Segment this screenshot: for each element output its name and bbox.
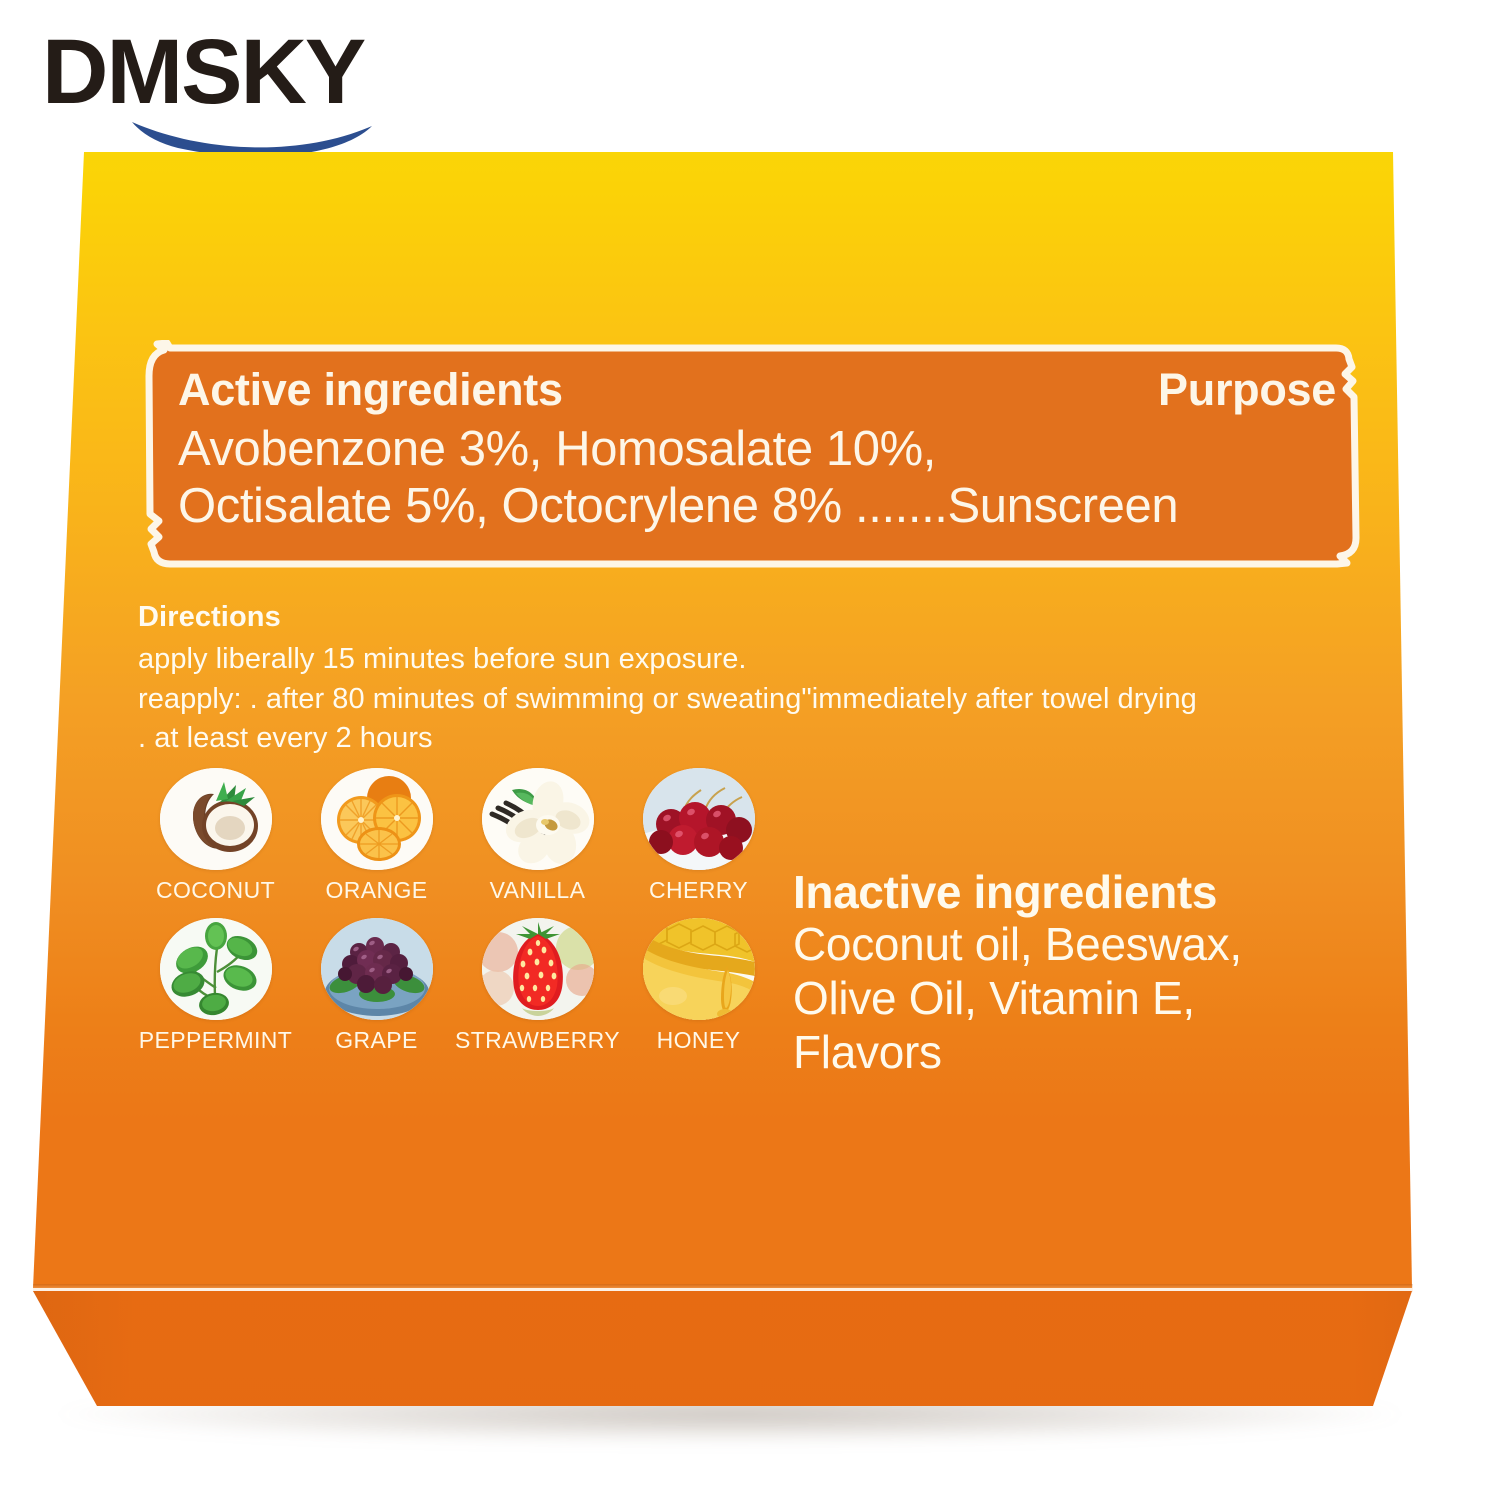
flavor-label: STRAWBERRY	[455, 1027, 620, 1054]
flavor-label: GRAPE	[335, 1027, 418, 1054]
flavor-item-coconut: COCONUT	[135, 768, 296, 904]
flavor-label: ORANGE	[325, 877, 427, 904]
cherry-icon	[643, 768, 755, 870]
flavor-item-orange: ORANGE	[296, 768, 457, 904]
flavor-label: COCONUT	[156, 877, 275, 904]
active-ingredients-heading: Active ingredients	[178, 366, 563, 413]
inactive-ingredients-list: Coconut oil, Beeswax, Olive Oil, Vitamin…	[793, 918, 1393, 1079]
flavor-label: VANILLA	[490, 877, 586, 904]
strawberry-icon	[482, 918, 594, 1020]
inactive-ingredients-heading: Inactive ingredients	[793, 868, 1393, 916]
flavor-item-peppermint: PEPPERMINT	[135, 918, 296, 1054]
flavor-label: PEPPERMINT	[139, 1027, 293, 1054]
active-ingredients-panel: Active ingredients Purpose Avobenzone 3%…	[140, 340, 1366, 572]
grape-icon	[321, 918, 433, 1020]
flavor-item-cherry: CHERRY	[618, 768, 779, 904]
flavor-label: HONEY	[657, 1027, 741, 1054]
peppermint-icon	[160, 918, 272, 1020]
honey-icon	[643, 918, 755, 1020]
inactive-ingredients-block: Inactive ingredients Coconut oil, Beeswa…	[793, 868, 1393, 1080]
purpose-heading: Purpose	[1158, 366, 1342, 413]
directions-block: Directions apply liberally 15 minutes be…	[138, 600, 1378, 759]
flavor-item-grape: GRAPE	[296, 918, 457, 1054]
directions-body-text: apply liberally 15 minutes before sun ex…	[138, 640, 1378, 759]
orange-icon	[321, 768, 433, 870]
vanilla-icon	[482, 768, 594, 870]
flavor-grid: COCONUT	[135, 768, 781, 1068]
flavor-label: CHERRY	[649, 877, 748, 904]
flavor-row: PEPPERMINT	[135, 918, 781, 1054]
box-fold-crease	[33, 1284, 1413, 1292]
active-ingredients-list: Avobenzone 3%, Homosalate 10%, Octisalat…	[178, 421, 1342, 535]
flavor-row: COCONUT	[135, 768, 781, 904]
directions-heading: Directions	[138, 600, 1378, 635]
flavor-item-strawberry: STRAWBERRY	[457, 918, 618, 1054]
coconut-icon	[160, 768, 272, 870]
active-panel-header-row: Active ingredients Purpose	[178, 366, 1342, 413]
flavor-item-vanilla: VANILLA	[457, 768, 618, 904]
active-panel-content: Active ingredients Purpose Avobenzone 3%…	[178, 366, 1342, 558]
flavor-item-honey: HONEY	[618, 918, 779, 1054]
